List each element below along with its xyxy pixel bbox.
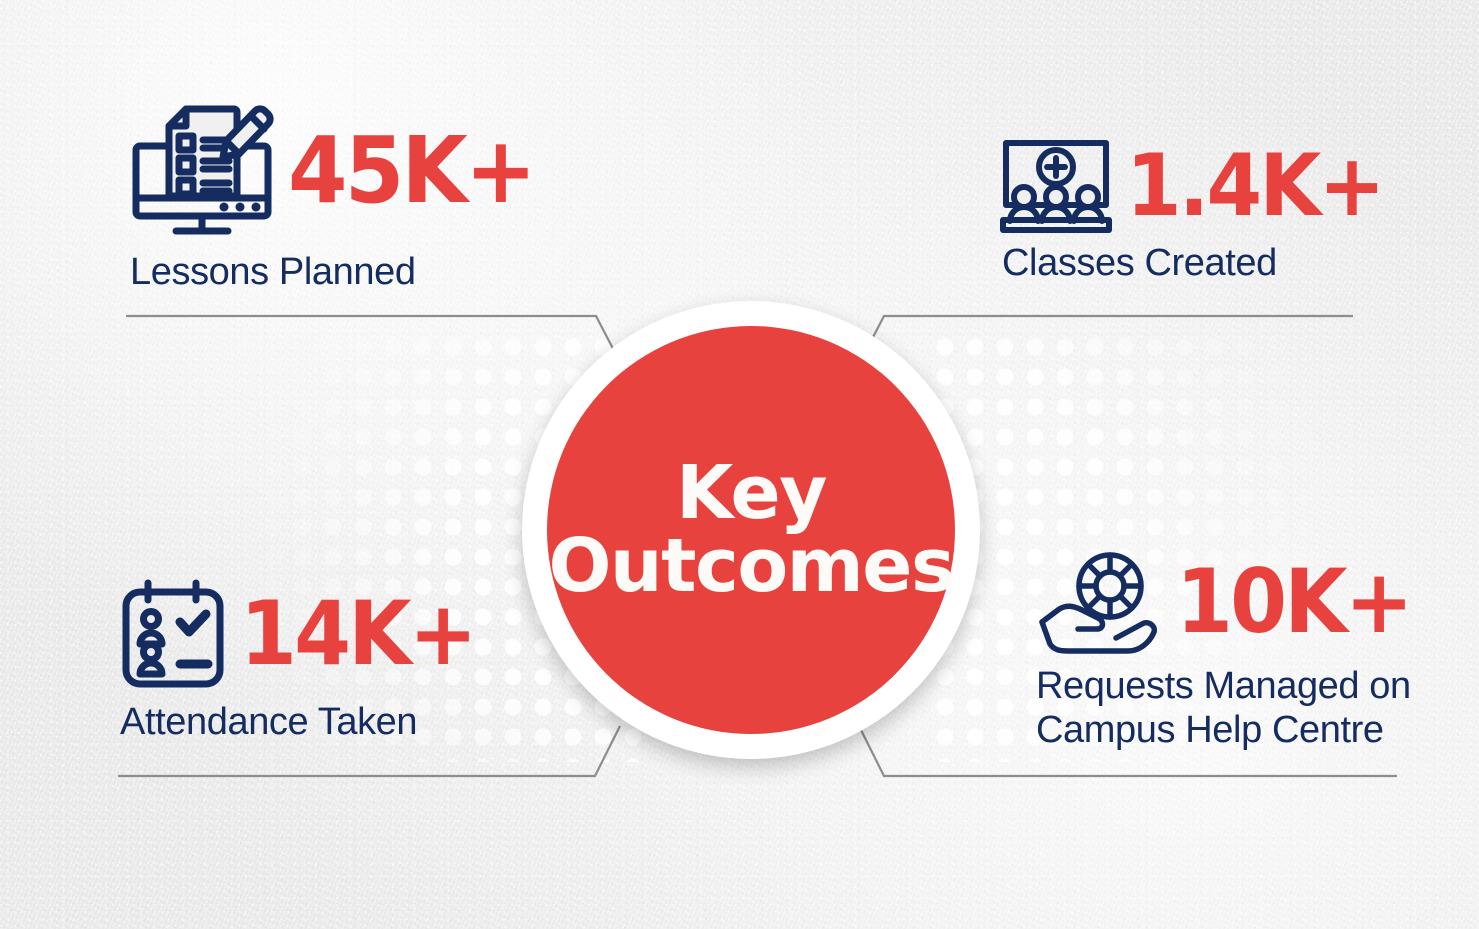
infographic-canvas: 45K+ Lessons Planned	[0, 0, 1479, 929]
stat-value: 45K+	[288, 125, 534, 217]
calendar-attendance-check-icon	[118, 578, 228, 690]
stat-label: Classes Created	[1002, 241, 1402, 285]
stat-requests-managed: 10K+ Requests Managed on Campus Help Cen…	[1036, 548, 1428, 752]
stat-label: Lessons Planned	[130, 250, 552, 294]
key-outcomes-disc: Key Outcomes	[547, 326, 955, 734]
stat-lessons-planned: 45K+ Lessons Planned	[128, 100, 552, 294]
stat-attendance-taken: 14K+ Attendance Taken	[118, 578, 492, 744]
key-outcomes-badge: Key Outcomes	[522, 301, 980, 759]
connector-top-left	[126, 316, 622, 366]
hand-lifebuoy-support-icon	[1036, 548, 1164, 656]
stat-value: 14K+	[240, 590, 475, 678]
connector-top-right	[858, 316, 1353, 366]
stat-value: 1.4K+	[1126, 143, 1383, 229]
page-title: Key Outcomes	[548, 457, 953, 604]
stat-label: Attendance Taken	[120, 700, 492, 744]
stat-value: 10K+	[1176, 558, 1411, 646]
classroom-board-people-plus-icon	[998, 137, 1114, 235]
stat-label: Requests Managed on Campus Help Centre	[1036, 664, 1428, 752]
monitor-checklist-pencil-icon	[128, 100, 276, 242]
stat-classes-created: 1.4K+ Classes Created	[998, 137, 1402, 285]
